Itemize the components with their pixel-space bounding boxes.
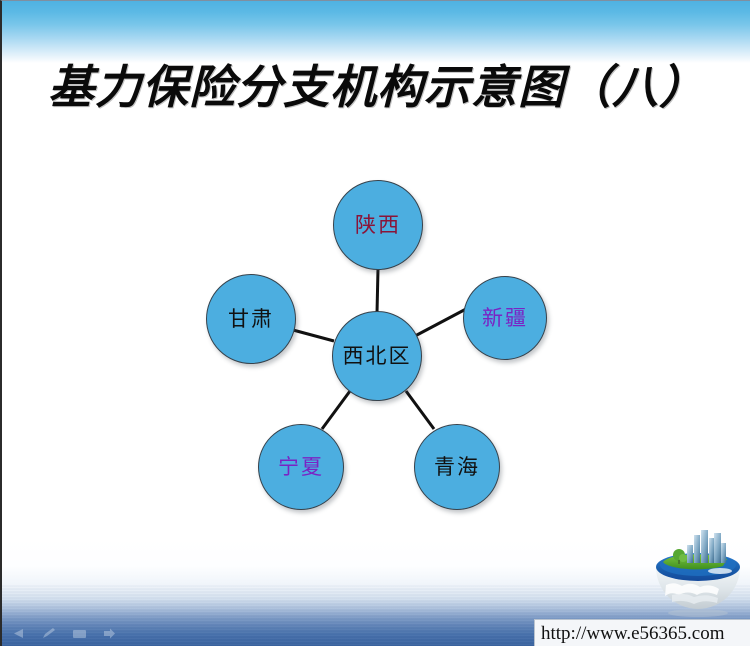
node-label-center: 西北区 bbox=[343, 346, 412, 367]
edge-center-to-shaanxi bbox=[377, 269, 378, 313]
pen-icon bbox=[40, 626, 58, 641]
globe-city-logo-icon bbox=[650, 527, 746, 617]
diagram-node-gansu[interactable]: 甘肃 bbox=[206, 274, 296, 364]
org-chart-diagram: 西北区 陕西 新疆 甘肃 宁夏 青海 bbox=[2, 1, 750, 646]
edge-center-to-xinjiang bbox=[415, 309, 466, 336]
node-label-xinjiang: 新疆 bbox=[482, 308, 528, 329]
edge-center-to-qinghai bbox=[406, 391, 434, 429]
previous-arrow-icon bbox=[10, 626, 28, 641]
node-label-qinghai: 青海 bbox=[434, 457, 480, 478]
next-slide-button[interactable] bbox=[100, 626, 118, 641]
edge-center-to-gansu bbox=[293, 330, 334, 341]
node-label-shaanxi: 陕西 bbox=[355, 215, 401, 236]
menu-button[interactable] bbox=[70, 626, 88, 641]
diagram-node-xinjiang[interactable]: 新疆 bbox=[463, 276, 547, 360]
next-arrow-icon bbox=[100, 626, 118, 641]
diagram-node-qinghai[interactable]: 青海 bbox=[414, 424, 500, 510]
node-label-ningxia: 宁夏 bbox=[278, 457, 324, 478]
node-label-gansu: 甘肃 bbox=[228, 309, 274, 330]
presentation-slide: 基力保险分支机构示意图（八） 西北区 陕西 新疆 甘肃 宁夏 青海 bbox=[0, 0, 750, 646]
diagram-node-ningxia[interactable]: 宁夏 bbox=[258, 424, 344, 510]
edge-center-to-ningxia bbox=[322, 391, 350, 429]
website-url-plate[interactable]: http://www.e56365.com bbox=[534, 619, 750, 646]
diagram-node-shaanxi[interactable]: 陕西 bbox=[333, 180, 423, 270]
pen-tool-button[interactable] bbox=[40, 626, 58, 641]
menu-icon bbox=[70, 626, 88, 641]
slideshow-nav-controls[interactable] bbox=[10, 626, 118, 641]
previous-slide-button[interactable] bbox=[10, 626, 28, 641]
website-url-text: http://www.e56365.com bbox=[535, 623, 724, 645]
diagram-node-center[interactable]: 西北区 bbox=[332, 311, 422, 401]
